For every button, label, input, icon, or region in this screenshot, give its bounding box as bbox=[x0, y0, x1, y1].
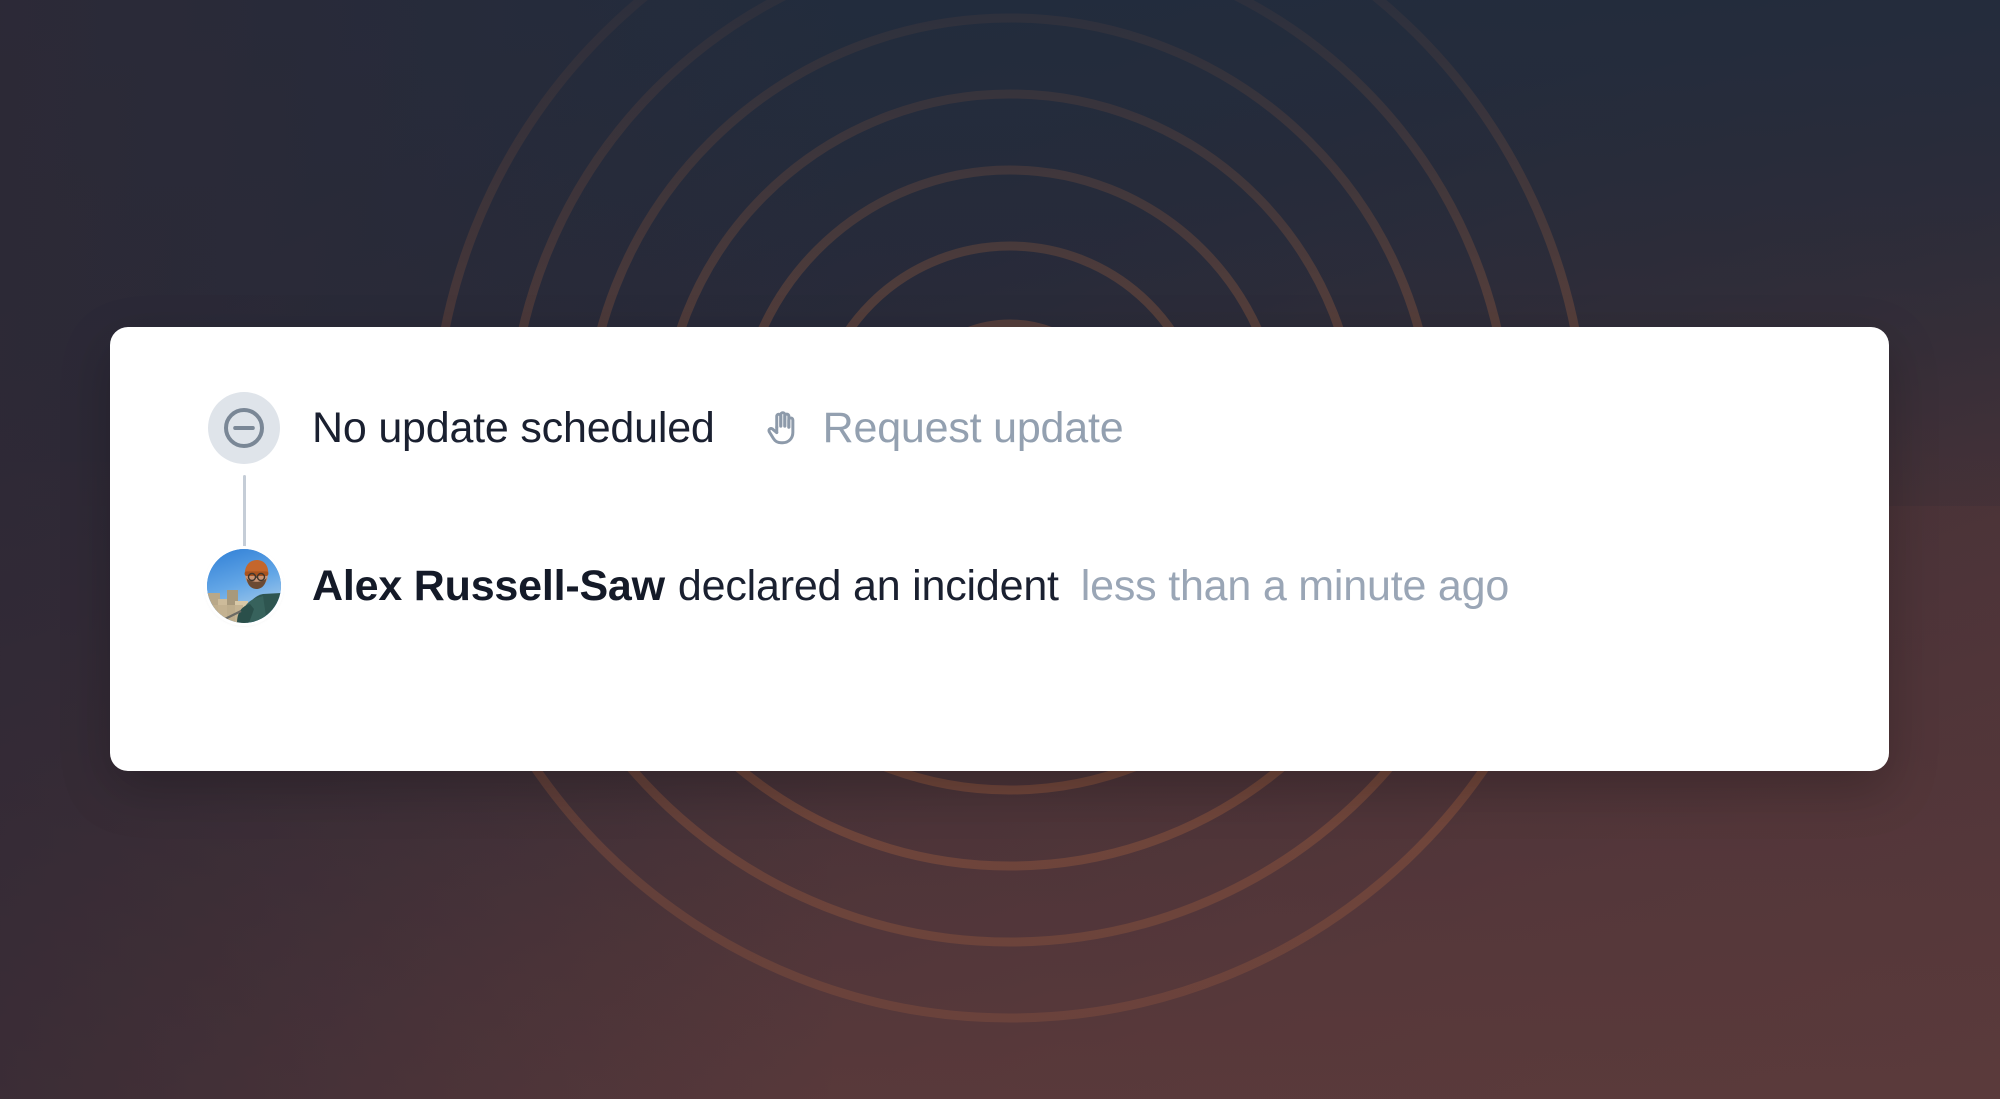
incident-timestamp: less than a minute ago bbox=[1081, 562, 1509, 611]
update-row-content: No update scheduled Request update bbox=[312, 404, 1123, 453]
incident-row-content: Alex Russell-Saw declared an incident le… bbox=[312, 562, 1509, 611]
incident-actor-name: Alex Russell-Saw bbox=[312, 562, 665, 611]
timeline-row-update: No update scheduled Request update bbox=[200, 389, 1840, 467]
request-update-label: Request update bbox=[823, 404, 1124, 453]
incident-status-card: No update scheduled Request update bbox=[110, 327, 1889, 771]
incident-action-text: declared an incident bbox=[678, 562, 1059, 611]
avatar[interactable] bbox=[207, 549, 281, 623]
request-update-button[interactable]: Request update bbox=[759, 404, 1124, 453]
no-update-label: No update scheduled bbox=[312, 404, 715, 453]
raised-hand-icon bbox=[759, 405, 805, 451]
circle-minus-icon bbox=[208, 392, 280, 464]
incident-timeline: No update scheduled Request update bbox=[200, 389, 1840, 625]
incident-actor-marker bbox=[200, 549, 288, 623]
update-status-marker bbox=[200, 392, 288, 464]
timeline-row-incident: Alex Russell-Saw declared an incident le… bbox=[200, 547, 1840, 625]
